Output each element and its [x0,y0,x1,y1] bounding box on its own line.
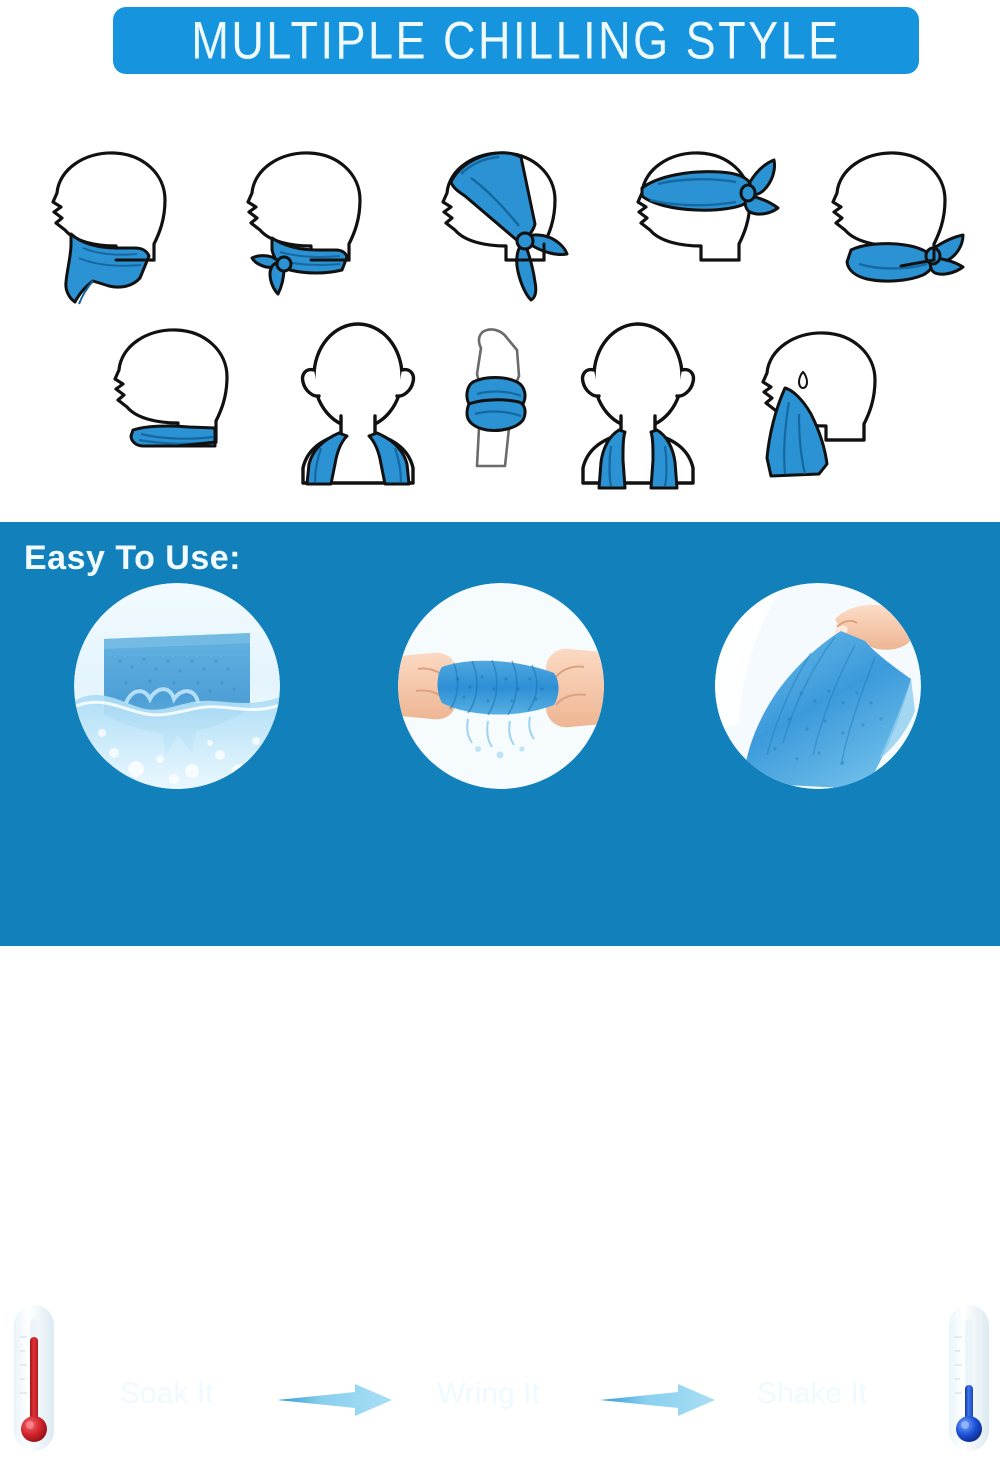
head-profile-bandana-knot-icon [208,138,403,313]
styles-row-1 [0,138,1000,313]
styles-row-2 [0,318,1000,493]
style-item-around-neck [553,318,723,498]
front-figure-around-neck-icon [553,318,723,493]
wrist-towel-shape [466,378,524,431]
head-profile-headwrap-icon [403,138,598,313]
style-item-neck-sling [793,138,988,318]
style-item-wrist-band [443,318,553,498]
arrow-wring-to-shake [600,1384,715,1416]
style-item-shoulder-drape [273,318,443,498]
title-banner: MULTIPLE CHILLING STYLE [113,7,919,74]
sweat-drop-icon [799,372,807,388]
photo-soak-it [74,583,280,789]
photo-shake-it [715,583,921,789]
style-item-head-wrap-diagonal [403,138,598,318]
step-label-wring: Wring It [437,1377,540,1411]
hands-wringing-towel-photo [398,583,604,789]
style-item-collar-wrap [83,318,273,498]
photo-wring-it [398,583,604,789]
step-label-soak: Soak It [120,1377,213,1411]
thermometer-cold-icon [947,1303,991,1458]
front-figure-shoulder-drape-icon [273,318,443,493]
head-profile-collar-icon [83,318,273,493]
easy-to-use-section: Easy To Use: [0,522,1000,946]
style-item-neck-wrap-front-tie [13,138,208,318]
towel-in-water-photo [74,583,280,789]
thermometer-hot-icon [12,1303,56,1458]
chilling-styles-section: MULTIPLE CHILLING STYLE [0,0,1000,522]
head-profile-face-wipe-icon [723,318,918,493]
style-item-neck-scarf-knot [208,138,403,318]
head-profile-headband-icon [598,138,793,313]
arrow-soak-to-wring [277,1384,392,1416]
easy-to-use-heading: Easy To Use: [24,539,241,578]
hand-shaking-towel-photo [715,583,921,789]
head-profile-bandana-neck-icon [13,138,208,313]
style-item-face-wipe [723,318,918,498]
style-item-headband-forehead [598,138,793,318]
head-profile-neck-sling-icon [793,138,988,313]
page-title: MULTIPLE CHILLING STYLE [191,10,840,71]
arm-wrist-wrap-icon [443,318,553,493]
step-label-shake: Shake It [757,1377,867,1411]
